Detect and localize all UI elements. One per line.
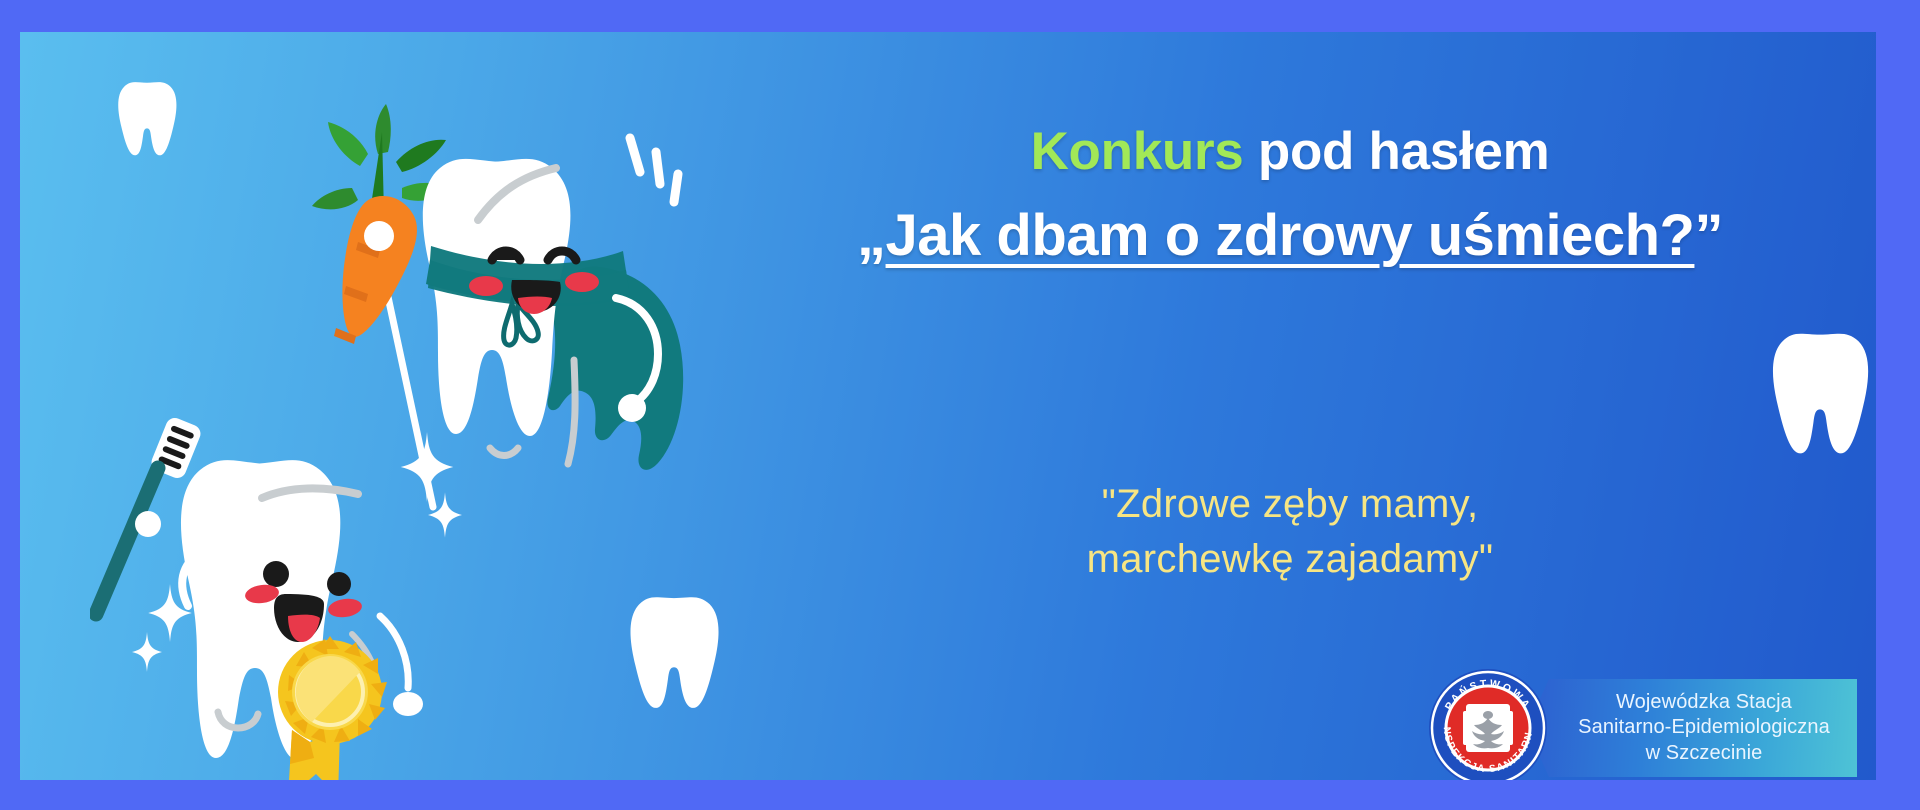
logo-banner: Wojewódzka Stacja Sanitarno-Epidemiologi… bbox=[1527, 679, 1857, 777]
blush-right bbox=[327, 597, 363, 620]
sanitary-inspection-seal-icon: PAŃSTWOWA INSPEKCJA SANITARNA bbox=[1427, 667, 1549, 780]
eye-left bbox=[263, 561, 289, 587]
logo-banner-line-3: w Szczecinie bbox=[1578, 741, 1830, 767]
page-title: „Jak dbam o zdrowy uśmiech?” bbox=[720, 204, 1860, 269]
logo-banner-line-1: Wojewódzka Stacja bbox=[1578, 690, 1830, 716]
blush-right bbox=[565, 272, 599, 292]
carrot-icon bbox=[342, 196, 417, 337]
headline: Konkurs pod hasłem bbox=[720, 122, 1860, 183]
blush-left bbox=[469, 276, 503, 296]
headline-highlight: Konkurs bbox=[1031, 122, 1244, 181]
eye-right bbox=[327, 572, 351, 596]
headline-rest: pod hasłem bbox=[1243, 122, 1549, 181]
logo-lockup: Wojewódzka Stacja Sanitarno-Epidemiologi… bbox=[1427, 667, 1876, 780]
title-main: Jak dbam o zdrowy uśmiech? bbox=[886, 203, 1695, 268]
logo-banner-line-2: Sanitarno-Epidemiologiczna bbox=[1578, 715, 1830, 741]
slogan-line-2: marchewkę zajadamy" bbox=[720, 532, 1860, 587]
floating-tooth-icon bbox=[113, 80, 181, 158]
slogan: "Zdrowe zęby mamy, marchewkę zajadamy" bbox=[720, 477, 1860, 587]
speed-lines bbox=[630, 138, 678, 202]
poster-root: Konkurs pod hasłem „Jak dbam o zdrowy uś… bbox=[0, 0, 1920, 810]
title-close-quote: ” bbox=[1694, 203, 1723, 268]
poster-panel: Konkurs pod hasłem „Jak dbam o zdrowy uś… bbox=[20, 32, 1876, 780]
title-open-quote: „ bbox=[857, 203, 886, 268]
brush-tooth-character bbox=[90, 402, 440, 780]
logo-banner-text: Wojewódzka Stacja Sanitarno-Epidemiologi… bbox=[1554, 690, 1830, 767]
floating-tooth-icon bbox=[623, 594, 725, 712]
slogan-line-1: "Zdrowe zęby mamy, bbox=[720, 477, 1860, 532]
